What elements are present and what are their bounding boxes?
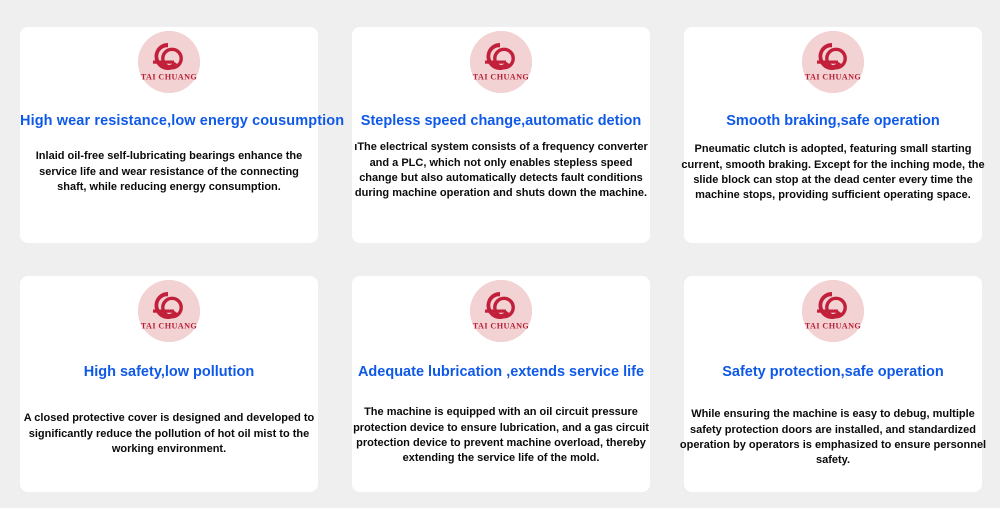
card-title: Safety protection,safe operation <box>684 364 982 381</box>
card-title: Stepless speed change,automatic detion <box>352 113 650 130</box>
tai-chuang-logo-icon: TAI CHUANG <box>470 31 532 93</box>
svg-text:TAI CHUANG: TAI CHUANG <box>141 322 198 331</box>
feature-card-safety-protection[interactable]: TAI CHUANG Safety protection,safe operat… <box>684 276 982 492</box>
svg-text:TAI CHUANG: TAI CHUANG <box>473 73 530 82</box>
svg-text:TAI CHUANG: TAI CHUANG <box>141 73 198 82</box>
card-title: Smooth braking,safe operation <box>684 113 982 130</box>
card-body-text: While ensuring the machine is easy to de… <box>679 407 987 468</box>
feature-card-adequate-lubrication[interactable]: TAI CHUANG Adequate lubrication ,extends… <box>352 276 650 492</box>
card-title: High wear resistance,low energy cousumpt… <box>20 113 318 130</box>
card-title: High safety,low pollution <box>20 364 318 381</box>
tai-chuang-logo-icon: TAI CHUANG <box>470 280 532 342</box>
feature-card-stepless-speed-change[interactable]: TAI CHUANG Stepless speed change,automat… <box>352 27 650 243</box>
feature-card-high-safety-low-pollution[interactable]: TAI CHUANG High safety,low pollution A c… <box>20 276 318 492</box>
svg-text:TAI CHUANG: TAI CHUANG <box>805 322 862 331</box>
feature-card-smooth-braking[interactable]: TAI CHUANG Smooth braking,safe operation… <box>684 27 982 243</box>
card-logo-wrapper: TAI CHUANG <box>352 27 650 93</box>
card-body-text: ıThe electrical system consists of a fre… <box>352 140 650 201</box>
card-logo-wrapper: TAI CHUANG <box>684 27 982 93</box>
card-body-text: Pneumatic clutch is adopted, featuring s… <box>677 142 989 203</box>
tai-chuang-logo-icon: TAI CHUANG <box>802 31 864 93</box>
card-logo-wrapper: TAI CHUANG <box>684 276 982 342</box>
tai-chuang-logo-icon: TAI CHUANG <box>138 31 200 93</box>
card-body-text: The machine is equipped with an oil circ… <box>348 405 654 466</box>
tai-chuang-logo-icon: TAI CHUANG <box>802 280 864 342</box>
svg-text:TAI CHUANG: TAI CHUANG <box>473 322 530 331</box>
card-logo-wrapper: TAI CHUANG <box>352 276 650 342</box>
feature-card-high-wear-resistance[interactable]: TAI CHUANG High wear resistance,low ener… <box>20 27 318 243</box>
svg-text:TAI CHUANG: TAI CHUANG <box>805 73 862 82</box>
card-body-text: Inlaid oil-free self-lubricating bearing… <box>20 149 318 195</box>
card-logo-wrapper: TAI CHUANG <box>20 276 318 342</box>
card-title: Adequate lubrication ,extends service li… <box>352 364 650 381</box>
card-body-text: A closed protective cover is designed an… <box>20 411 318 457</box>
feature-card-grid: TAI CHUANG High wear resistance,low ener… <box>0 0 1000 508</box>
tai-chuang-logo-icon: TAI CHUANG <box>138 280 200 342</box>
card-logo-wrapper: TAI CHUANG <box>20 27 318 93</box>
